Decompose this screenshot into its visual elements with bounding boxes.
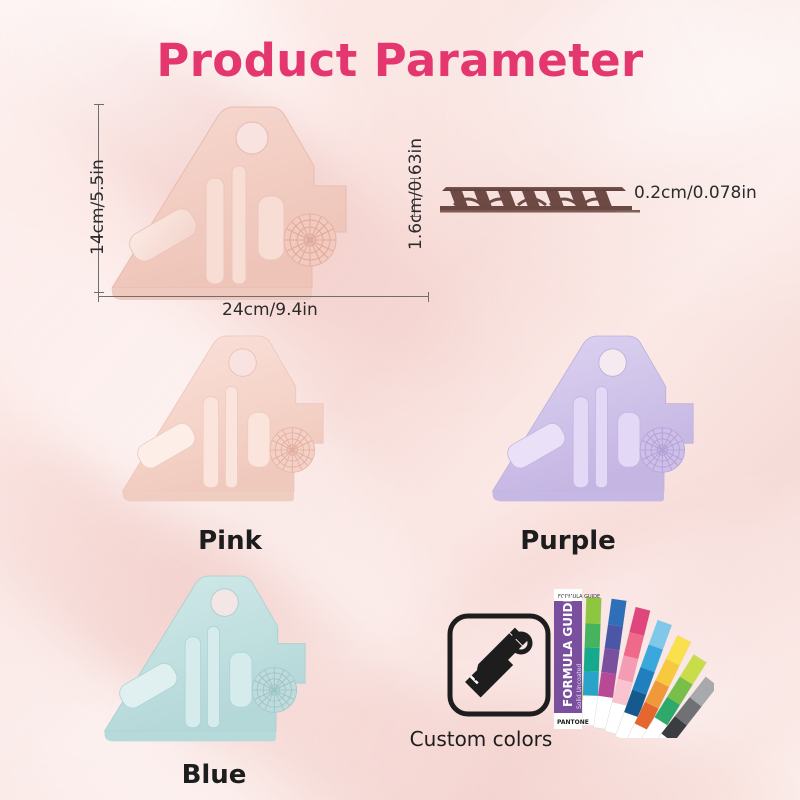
variant-product-blue xyxy=(90,570,390,750)
product-parameter-infographic: Product Parameter xyxy=(0,0,800,800)
side-profile-illustration xyxy=(440,175,640,225)
pantone-brand-text: PANTONE xyxy=(557,719,589,726)
width-dimension-line xyxy=(98,296,428,297)
hero-product-illustration xyxy=(100,100,440,310)
thickness-dimension-line xyxy=(616,211,636,212)
width-dimension-tick xyxy=(98,292,99,302)
height-dimension-label: 14cm/5.5in xyxy=(88,159,108,255)
variant-label-purple: Purple xyxy=(458,526,678,556)
variant-product-pink xyxy=(108,330,408,510)
variant-label-blue: Blue xyxy=(104,760,324,790)
height-dimension-tick xyxy=(94,292,104,293)
pantone-title-text: FORMULA GUIDE xyxy=(561,594,575,707)
width-dimension-label: 24cm/9.4in xyxy=(222,300,318,320)
variant-product-purple xyxy=(478,330,778,510)
page-title: Product Parameter xyxy=(0,34,800,87)
variant-label-pink: Pink xyxy=(120,526,340,556)
pantone-subtitle-text: Solid Uncoated xyxy=(576,664,583,709)
width-dimension-tick xyxy=(428,292,429,302)
thickness-dimension-label: 0.2cm/0.078in xyxy=(634,183,757,203)
side-height-dimension-label: 1.6cm/0.63in xyxy=(406,138,426,250)
pantone-fan-deck: FORMULA GUIDE FORMULA GUIDE Solid Uncoat… xyxy=(524,583,714,738)
height-dimension-tick xyxy=(94,104,104,105)
